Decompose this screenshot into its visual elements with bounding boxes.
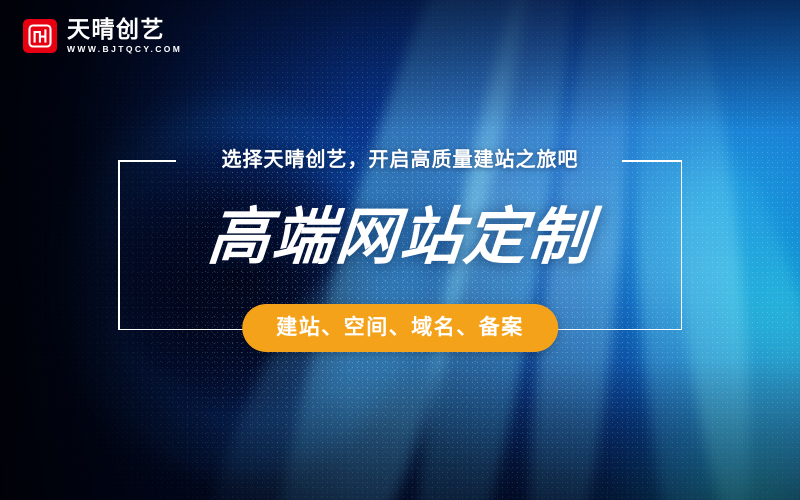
tqcy-monogram-icon [23, 19, 57, 53]
brand-logo-text: 天晴创艺 WWW.BJTQCY.COM [67, 18, 182, 54]
brand-logo[interactable]: 天晴创艺 WWW.BJTQCY.COM [23, 18, 182, 54]
hero-banner: 天晴创艺 WWW.BJTQCY.COM 选择天晴创艺，开启高质量建站之旅吧 高端… [0, 0, 800, 500]
hero-headline: 高端网站定制 [115, 207, 684, 269]
brand-name-cn: 天晴创艺 [67, 18, 182, 41]
hero-tagline: 选择天晴创艺，开启高质量建站之旅吧 [118, 150, 682, 170]
hero-frame: 选择天晴创艺，开启高质量建站之旅吧 高端网站定制 建站、空间、域名、备案 [118, 160, 682, 330]
frame-border-bottom-right [544, 329, 682, 331]
services-pill-button[interactable]: 建站、空间、域名、备案 [242, 304, 558, 352]
brand-website-url: WWW.BJTQCY.COM [67, 45, 182, 54]
